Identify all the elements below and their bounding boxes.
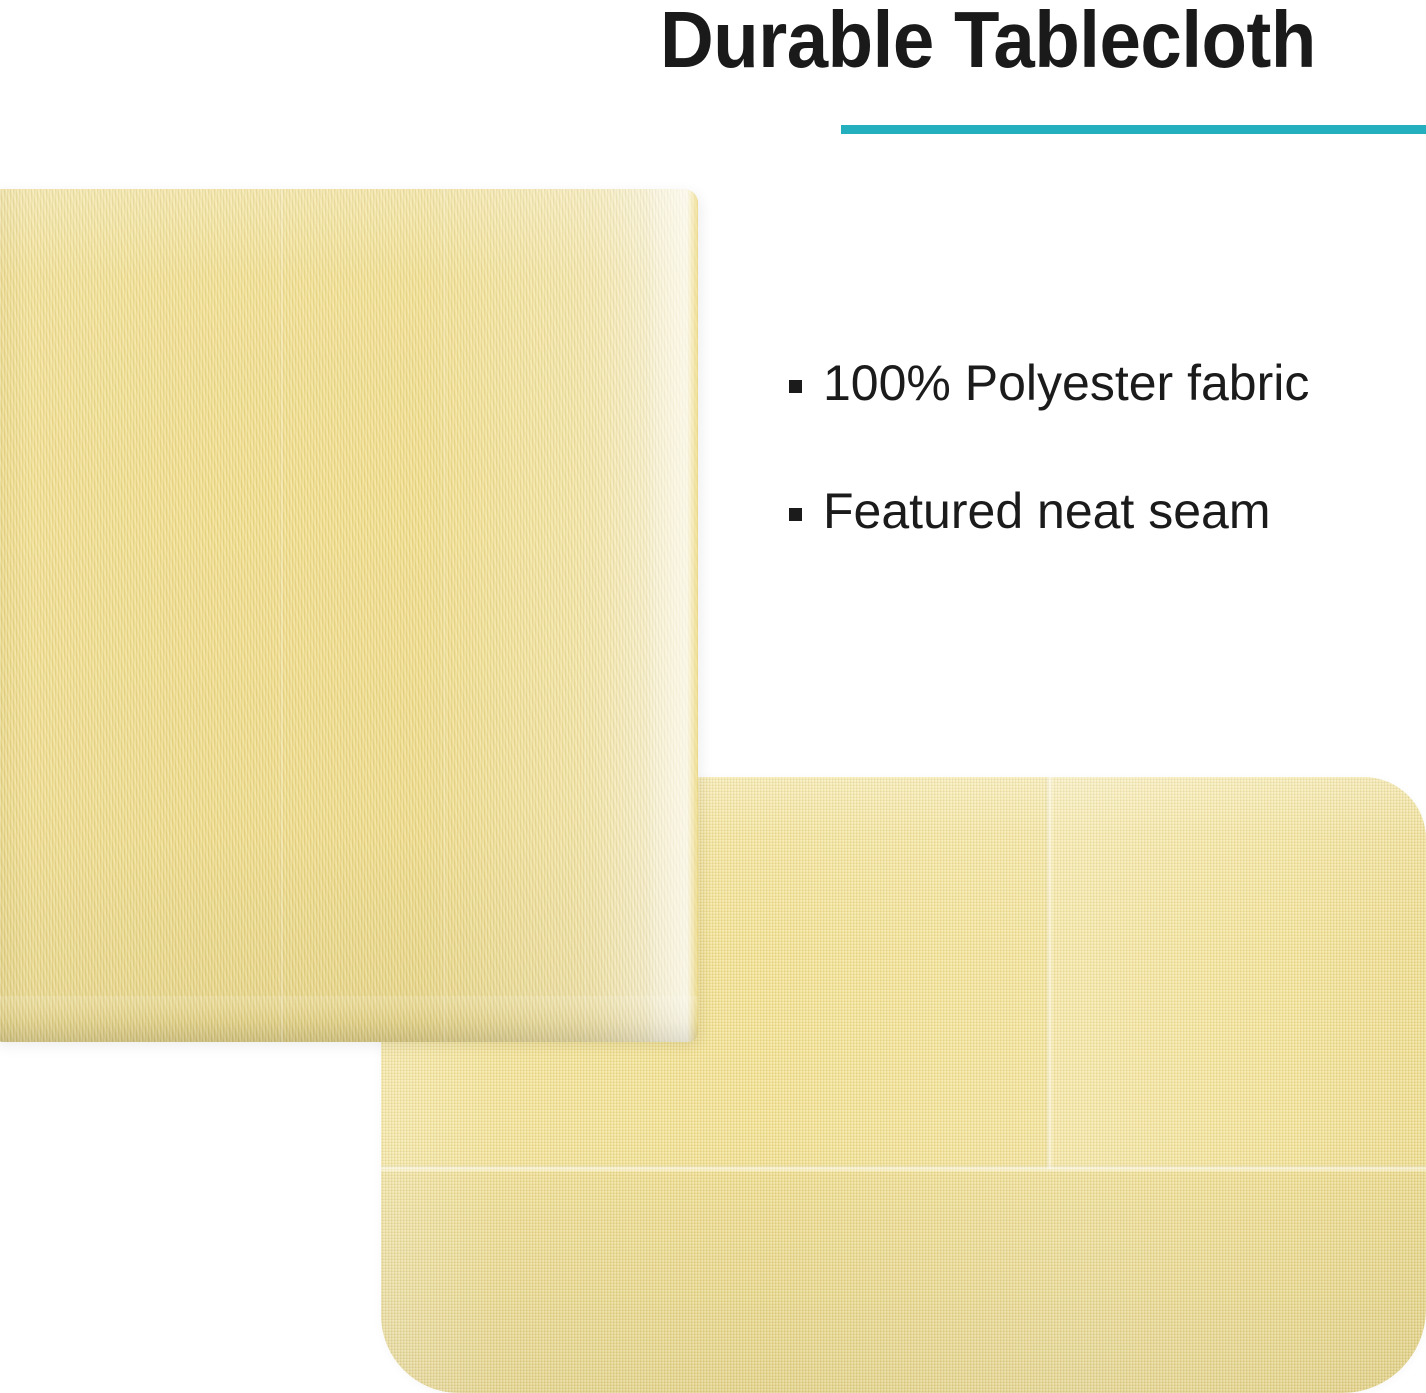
feature-label: Featured neat seam xyxy=(823,483,1271,539)
list-item: Featured neat seam xyxy=(786,480,1406,542)
fabric-weave-vertical-texture xyxy=(0,189,698,1042)
page-title: Durable Tablecloth xyxy=(660,0,1316,86)
fabric-crease xyxy=(280,189,283,1042)
fold-edge-bottom xyxy=(0,996,698,1042)
square-bullet-icon xyxy=(789,508,802,521)
hem-band-right xyxy=(1053,777,1426,1169)
panel-lower-apron-shading xyxy=(381,1172,1426,1393)
feature-label: 100% Polyester fabric xyxy=(823,355,1309,411)
seam-line-vertical xyxy=(1046,777,1053,1169)
fold-edge-highlight xyxy=(646,189,698,1042)
feature-list: 100% Polyester fabric Featured neat seam xyxy=(786,352,1406,542)
headline-block: Durable Tablecloth xyxy=(655,0,1426,150)
list-item: 100% Polyester fabric xyxy=(786,352,1406,414)
fabric-crease xyxy=(584,189,587,1042)
square-bullet-icon xyxy=(789,380,802,393)
fabric-twill-sheen-texture xyxy=(0,189,698,1042)
fabric-crease xyxy=(443,189,446,1042)
headline-accent-rule xyxy=(841,125,1426,134)
folded-tablecloth-panel xyxy=(0,189,698,1042)
product-feature-banner: Durable Tablecloth 100% Polyester fabric… xyxy=(0,0,1426,1393)
seam-line-horizontal xyxy=(381,1165,1426,1172)
